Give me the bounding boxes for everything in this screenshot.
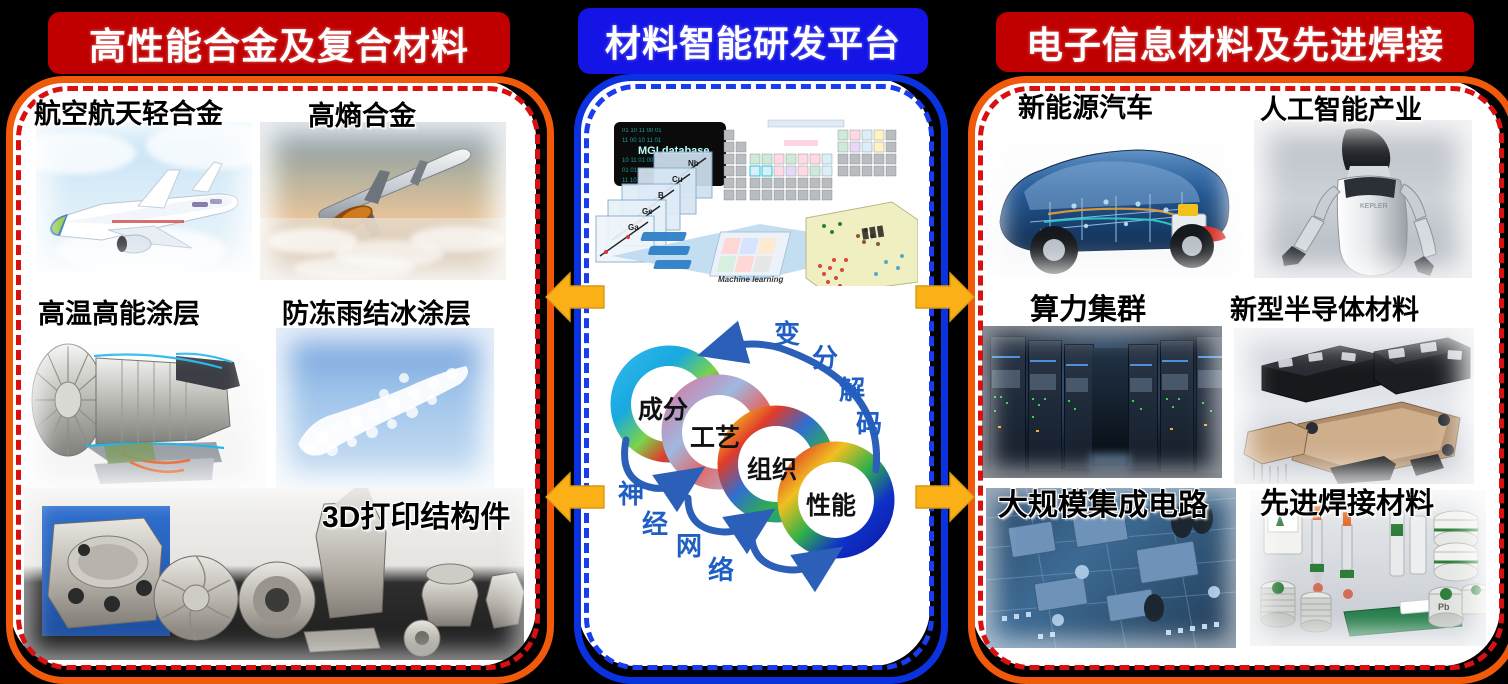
tile-anti-icing-coating bbox=[276, 328, 494, 488]
svg-text:Ge: Ge bbox=[642, 207, 653, 216]
svg-text:Cu: Cu bbox=[672, 175, 683, 184]
caption-new-energy-vehicle: 新能源汽车 bbox=[1018, 86, 1153, 125]
svg-text:01 10 11 00 01: 01 10 11 00 01 bbox=[622, 128, 662, 134]
mgi-database-figure: 01 10 11 00 0111 00 10 11 01 10 11 01 00… bbox=[592, 106, 918, 286]
svg-text:Nb: Nb bbox=[688, 159, 699, 168]
mgi-ml-schematic: 01 10 11 00 0111 00 10 11 01 10 11 01 00… bbox=[592, 106, 918, 286]
panel-left: 航空航天轻合金 bbox=[10, 80, 536, 666]
arc-bottom-char-3: 网 bbox=[676, 526, 702, 563]
caption-semiconductor-materials: 新型半导体材料 bbox=[1230, 288, 1419, 327]
caption-high-temp-coating: 高温高能涂层 bbox=[38, 292, 200, 331]
tile-compute-cluster bbox=[982, 326, 1222, 478]
header-left-alloys: 高性能合金及复合材料 bbox=[48, 12, 510, 74]
tile-high-temp-coating bbox=[26, 328, 266, 490]
arc-bottom-char-2: 经 bbox=[642, 504, 668, 541]
caption-compute-cluster: 算力集群 bbox=[1030, 286, 1146, 328]
arrow-left-top-icon bbox=[544, 268, 608, 326]
arrow-right-bottom bbox=[912, 468, 976, 526]
caption-integrated-circuits: 大规模集成电路 bbox=[998, 480, 1208, 524]
caption-ai-industry: 人工智能产业 bbox=[1260, 88, 1422, 127]
caption-3d-printed-parts: 3D打印结构件 bbox=[322, 492, 510, 536]
tile-aerospace-light-alloy bbox=[36, 122, 252, 272]
ring-label-microstructure: 组织 bbox=[747, 450, 797, 486]
arrow-left-top bbox=[544, 268, 608, 326]
tile-new-energy-vehicle bbox=[986, 118, 1242, 278]
arrow-left-bottom-icon bbox=[544, 468, 608, 526]
caption-high-entropy-alloy: 高熵合金 bbox=[308, 94, 416, 133]
header-right-electronics: 电子信息材料及先进焊接 bbox=[996, 12, 1474, 72]
arc-top-char-4: 码 bbox=[856, 404, 882, 441]
svg-text:B: B bbox=[658, 191, 664, 200]
svg-text:Ga: Ga bbox=[628, 223, 639, 232]
tile-high-entropy-alloy bbox=[260, 122, 506, 280]
arrow-right-top bbox=[912, 268, 976, 326]
svg-text:11 00 10 11 01: 11 00 10 11 01 bbox=[622, 138, 662, 144]
arrow-right-bottom-icon bbox=[912, 468, 976, 526]
caption-advanced-solder-materials: 先进焊接材料 bbox=[1260, 480, 1434, 522]
arc-top-char-1: 变 bbox=[774, 314, 800, 351]
tile-semiconductor-materials bbox=[1234, 328, 1474, 484]
arc-bottom-char-1: 神 bbox=[618, 474, 644, 511]
slide-canvas: 高性能合金及复合材料 材料智能研发平台 电子信息材料及先进焊接 bbox=[0, 0, 1508, 679]
arrow-right-top-icon bbox=[912, 268, 976, 326]
arc-top-char-3: 解 bbox=[839, 370, 865, 407]
ring-label-property: 性能 bbox=[806, 486, 856, 522]
header-center-platform: 材料智能研发平台 bbox=[578, 8, 928, 74]
panel-center: 01 10 11 00 0111 00 10 11 01 10 11 01 00… bbox=[578, 78, 930, 666]
ring-label-process: 工艺 bbox=[690, 418, 740, 454]
panel-right: 新能源汽车 KEPLER bbox=[972, 80, 1500, 666]
ring-label-composition: 成分 bbox=[638, 390, 688, 426]
caption-anti-icing-coating: 防冻雨结冰涂层 bbox=[282, 292, 471, 331]
tile-ai-industry: KEPLER bbox=[1254, 120, 1472, 278]
caption-aerospace-light-alloy: 航空航天轻合金 bbox=[34, 92, 223, 131]
arc-bottom-char-4: 络 bbox=[708, 550, 734, 587]
ring-diagram: 成分 工艺 组织 性能 变 分 解 码 神 经 网 络 bbox=[584, 292, 924, 660]
arc-top-char-2: 分 bbox=[812, 338, 838, 375]
svg-text:Machine learning: Machine learning bbox=[718, 275, 783, 284]
arrow-left-bottom bbox=[544, 468, 608, 526]
